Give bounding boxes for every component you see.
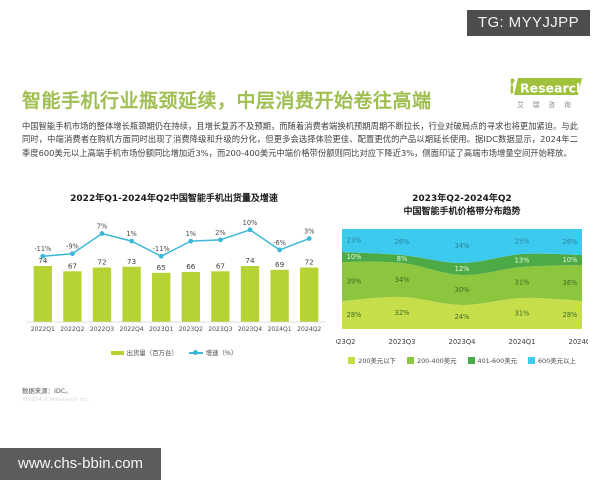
- area-value-label: 10%: [347, 253, 362, 261]
- x-axis-tick: 2023Q3: [208, 326, 232, 333]
- legend-swatch-icon: [348, 357, 355, 364]
- legend-item-shipments: 出货量（百万台）: [111, 348, 178, 357]
- line-value-label: -6%: [273, 239, 286, 247]
- area-value-label: 30%: [455, 286, 470, 294]
- legend-label: 401-600美元: [478, 356, 517, 365]
- legend-item-2: 401-600美元: [468, 356, 517, 365]
- chart-shipments-plot: 74677273656667746972-11%-9%7%1%-11%1%2%1…: [18, 210, 330, 345]
- area-value-label: 10%: [563, 256, 578, 264]
- x-axis-tick: 2022Q1: [31, 326, 55, 333]
- bar-value-label: 66: [186, 262, 196, 271]
- legend-item-0: 200美元以下: [348, 356, 396, 365]
- bottom-watermark-tag: www.chs-bbin.com: [0, 448, 161, 480]
- line-value-label: 10%: [243, 219, 258, 227]
- legend-swatch-icon: [528, 357, 535, 364]
- chart-price-bands-legend: 200美元以下200-400美元401-600美元600美元以上: [336, 356, 588, 365]
- x-axis-tick: 2022Q3: [90, 326, 114, 333]
- area-value-label: 13%: [515, 257, 530, 265]
- chart-shipments-title: 2022年Q1-2024年Q2中国智能手机出货量及增速: [18, 193, 330, 206]
- source-note: 数据来源：IDC。: [22, 386, 72, 395]
- brand-mark-icon: i Research: [502, 76, 586, 98]
- legend-swatch-icon: [468, 357, 475, 364]
- top-watermark-tag: TG: MYYJJPP: [467, 10, 590, 36]
- x-axis-tick: 2023Q1: [149, 326, 173, 333]
- chart-price-bands: 2023年Q2-2024年Q2 中国智能手机价格带分布趋势 28%32%24%3…: [336, 193, 588, 385]
- chart-shipments: 2022年Q1-2024年Q2中国智能手机出货量及增速 746772736566…: [18, 193, 330, 385]
- line-value-label: 2%: [215, 229, 225, 237]
- line-value-label: 1%: [186, 230, 196, 238]
- slide-page: TG: MYYJJPP i Research 艾 瑞 咨 询 智能手机行业瓶颈延…: [0, 0, 600, 480]
- x-axis-tick: 2023Q4: [238, 326, 262, 333]
- x-axis-tick: 2022Q4: [120, 326, 144, 333]
- chart-shipments-legend: 出货量（百万台） 增速（%）: [18, 348, 330, 357]
- line-value-label: -11%: [153, 245, 170, 253]
- area-value-label: 28%: [563, 311, 578, 319]
- legend-label-shipments: 出货量（百万台）: [127, 348, 178, 357]
- brand-subtitle: 艾 瑞 咨 询: [502, 100, 586, 110]
- legend-swatch-line-icon: [189, 349, 203, 356]
- legend-item-growth: 增速（%）: [189, 348, 238, 357]
- x-axis-tick: 2022Q2: [60, 326, 84, 333]
- line-value-label: -9%: [66, 243, 79, 251]
- bar-value-label: 73: [127, 257, 136, 266]
- legend-label: 200-400美元: [417, 356, 456, 365]
- legend-label: 600美元以上: [538, 356, 576, 365]
- bar-value-label: 69: [275, 260, 285, 269]
- chart-price-bands-plot: 28%32%24%31%28%39%34%30%31%36%10%8%12%13…: [336, 223, 588, 353]
- legend-label: 200美元以下: [358, 356, 396, 365]
- bar-value-label: 67: [68, 261, 77, 270]
- area-value-label: 24%: [455, 313, 470, 321]
- area-value-label: 31%: [515, 310, 530, 318]
- line-value-label: 1%: [126, 230, 136, 238]
- x-axis-tick: 2024Q1: [268, 326, 292, 333]
- line-value-label: 3%: [304, 228, 314, 236]
- bar-value-label: 65: [157, 263, 166, 272]
- legend-label-growth: 增速（%）: [206, 348, 238, 357]
- svg-text:Research: Research: [520, 81, 585, 96]
- iresearch-logo: i Research 艾 瑞 咨 询: [502, 76, 586, 110]
- line-value-label: -11%: [34, 245, 51, 253]
- area-value-label: 12%: [455, 265, 470, 273]
- x-axis-tick: 2024Q2: [569, 338, 588, 346]
- line-value-label: 7%: [97, 223, 107, 231]
- bar-value-label: 72: [305, 258, 314, 267]
- legend-swatch-icon: [407, 357, 414, 364]
- x-axis-tick: 2024Q2: [297, 326, 321, 333]
- area-value-label: 32%: [395, 309, 410, 317]
- area-value-label: 34%: [395, 276, 410, 284]
- area-value-label: 28%: [347, 311, 362, 319]
- x-axis-tick: 2023Q2: [179, 326, 203, 333]
- chart-price-bands-title-line2: 中国智能手机价格带分布趋势: [336, 206, 588, 219]
- copyright-note: ©2024.9 iResearch Inc.: [22, 397, 90, 403]
- bar-value-label: 74: [245, 256, 255, 265]
- x-axis-tick: 2023Q2: [336, 338, 355, 346]
- area-value-label: 39%: [347, 278, 362, 286]
- area-value-label: 23%: [347, 237, 362, 245]
- chart-price-bands-title: 2023年Q2-2024年Q2 中国智能手机价格带分布趋势: [336, 193, 588, 219]
- legend-swatch-bar-icon: [111, 351, 124, 355]
- bar-value-label: 72: [97, 258, 106, 267]
- area-value-label: 36%: [563, 279, 578, 287]
- area-value-label: 25%: [515, 238, 530, 246]
- body-paragraph: 中国智能手机市场的整体增长瓶颈期仍在持续，且增长复苏不及预期，而随着消费者端换机…: [22, 120, 578, 160]
- bar-value-label: 67: [216, 261, 225, 270]
- charts-container: 2022年Q1-2024年Q2中国智能手机出货量及增速 746772736566…: [0, 193, 600, 385]
- area-value-label: 31%: [515, 279, 530, 287]
- svg-text:i: i: [510, 82, 515, 98]
- area-value-label: 26%: [395, 238, 410, 246]
- chart-price-bands-title-line1: 2023年Q2-2024年Q2: [336, 193, 588, 206]
- x-axis-tick: 2024Q1: [509, 338, 536, 346]
- legend-item-1: 200-400美元: [407, 356, 456, 365]
- x-axis-tick: 2023Q3: [389, 338, 416, 346]
- area-value-label: 34%: [455, 242, 470, 250]
- legend-item-3: 600美元以上: [528, 356, 576, 365]
- page-title: 智能手机行业瓶颈延续，中层消费开始卷往高端: [22, 86, 432, 113]
- area-value-label: 26%: [563, 238, 578, 246]
- x-axis-tick: 2023Q4: [449, 338, 476, 346]
- area-value-label: 8%: [397, 255, 407, 263]
